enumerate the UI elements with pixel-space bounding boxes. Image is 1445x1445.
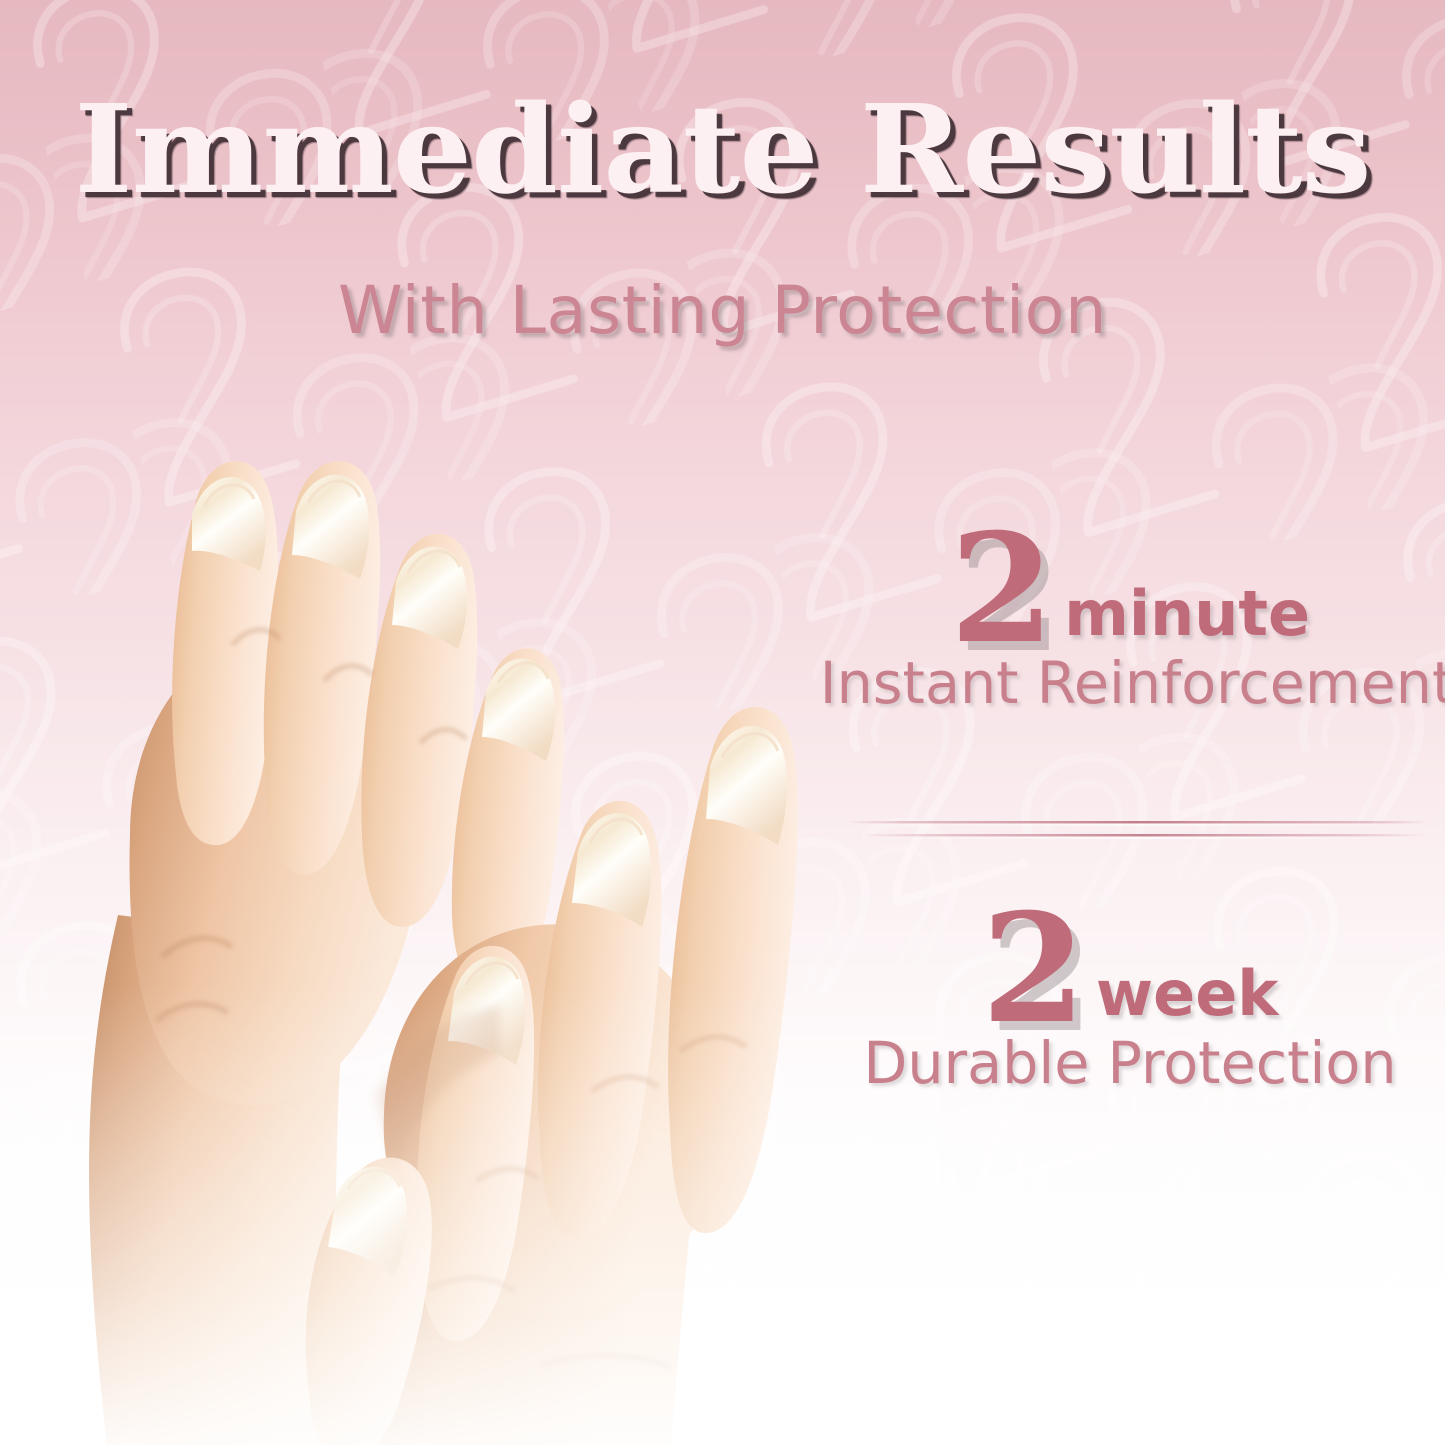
claim-number: 2 — [950, 520, 1050, 658]
hand-back — [89, 461, 564, 1445]
hands-photo — [0, 215, 940, 1445]
claim-description: Durable Protection — [820, 1034, 1441, 1093]
claim-headline: 2 minute — [815, 520, 1445, 658]
claim-number: 2 — [982, 900, 1082, 1038]
claim-unit: week — [1096, 963, 1279, 1025]
banner-canvas: Immediate Results With Lasting Protectio… — [0, 0, 1445, 1445]
claim-block-durable-protection: 2 week Durable Protection — [815, 900, 1445, 1093]
page-subtitle: With Lasting Protection — [7, 278, 1438, 344]
claim-block-instant-reinforcement: 2 minute Instant Reinforcement — [815, 520, 1445, 713]
claim-unit: minute — [1064, 583, 1310, 645]
claim-description: Instant Reinforcement — [820, 654, 1441, 713]
page-title: Immediate Results — [0, 88, 1445, 210]
double-rule-divider — [838, 812, 1438, 856]
hand-front — [306, 707, 798, 1445]
claim-headline: 2 week — [815, 900, 1445, 1038]
